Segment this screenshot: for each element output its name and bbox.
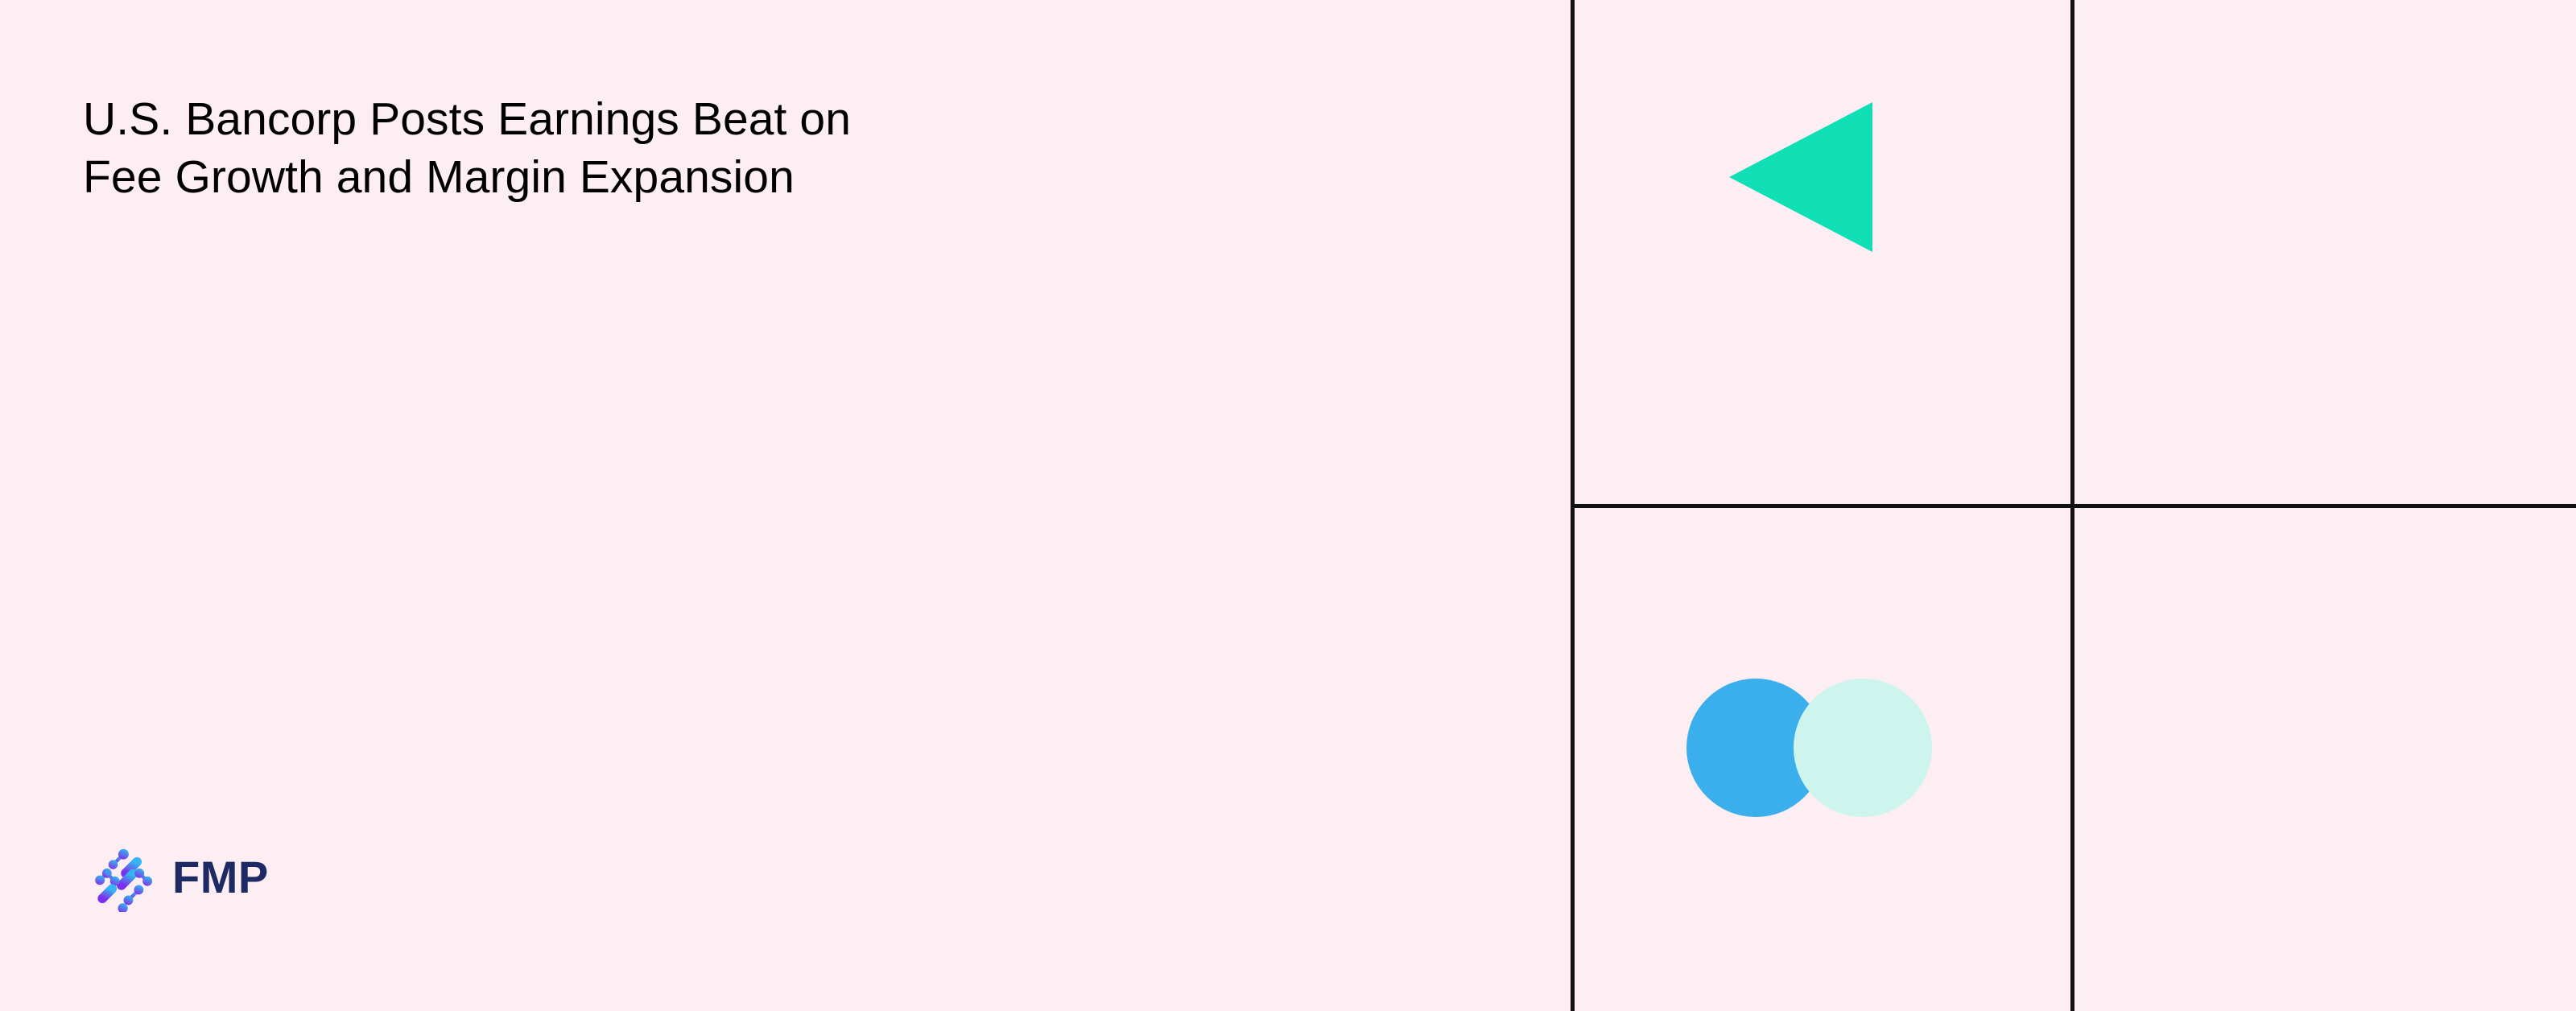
triangle-left-shape: [1729, 102, 1872, 252]
grid-cell-top-left: [1571, 0, 2070, 504]
page-title: U.S. Bancorp Posts Earnings Beat on Fee …: [83, 90, 1451, 206]
headline-line-2: Fee Growth and Margin Expansion: [83, 148, 1451, 206]
decorative-shape-grid: [1571, 0, 2576, 1011]
headline-line-1: U.S. Bancorp Posts Earnings Beat on: [83, 90, 1451, 148]
grid-cell-bottom-left: [1571, 508, 2070, 1011]
grid-cell-bottom-right: [2074, 508, 2576, 1011]
fmp-logo[interactable]: FMP: [89, 843, 269, 912]
grid-cell-top-right: [2074, 0, 2576, 504]
article-banner-canvas: U.S. Bancorp Posts Earnings Beat on Fee …: [0, 0, 2576, 1011]
fmp-diamond-network-icon: [89, 843, 158, 912]
circle-mint-shape: [1794, 679, 1932, 817]
fmp-wordmark: FMP: [172, 855, 269, 900]
